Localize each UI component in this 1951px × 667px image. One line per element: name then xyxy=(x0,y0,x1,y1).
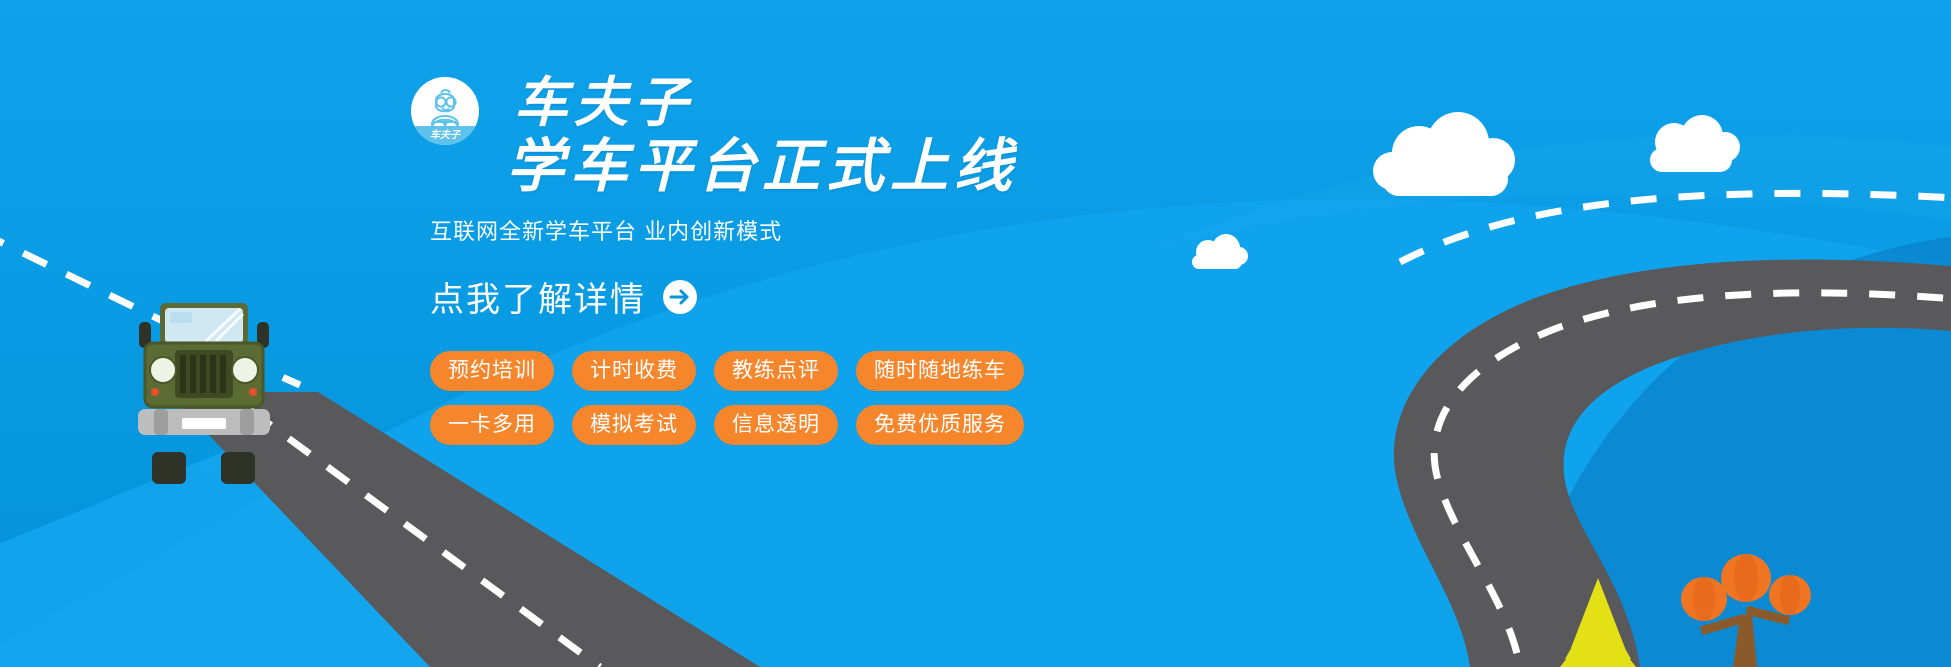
promo-banner: 车夫子 车夫子 学车平台正式上线 互联网全新学车平台 业内创新模式 点我了解详情 xyxy=(0,0,1951,667)
banner-content: 车夫子 车夫子 学车平台正式上线 互联网全新学车平台 业内创新模式 点我了解详情 xyxy=(410,62,1170,459)
feature-tag[interactable]: 模拟考试 xyxy=(572,405,696,445)
brand-row: 车夫子 车夫子 学车平台正式上线 xyxy=(410,62,1170,196)
feature-tag[interactable]: 教练点评 xyxy=(714,351,838,391)
logo-badge-text: 车夫子 xyxy=(430,129,461,141)
arrow-right-circle-icon xyxy=(662,279,698,315)
feature-tag[interactable]: 预约培训 xyxy=(430,351,554,391)
headline-line-2: 学车平台正式上线 xyxy=(506,138,1018,196)
feature-tag[interactable]: 免费优质服务 xyxy=(856,405,1024,445)
headline-line-1: 车夫子 xyxy=(514,76,1018,130)
feature-tag[interactable]: 一卡多用 xyxy=(430,405,554,445)
cta-learn-more-button[interactable]: 点我了解详情 xyxy=(430,272,698,321)
feature-tag[interactable]: 随时随地练车 xyxy=(856,351,1024,391)
chefuzi-driver-logo: 车夫子 xyxy=(410,76,480,146)
feature-tag[interactable]: 计时收费 xyxy=(572,351,696,391)
subtitle: 互联网全新学车平台 业内创新模式 xyxy=(430,214,1170,246)
cta-label: 点我了解详情 xyxy=(430,272,646,321)
feature-tag-row-2: 一卡多用 模拟考试 信息透明 免费优质服务 xyxy=(430,405,1170,445)
headline: 车夫子 学车平台正式上线 xyxy=(506,62,1018,196)
feature-tag[interactable]: 信息透明 xyxy=(714,405,838,445)
feature-tag-row-1: 预约培训 计时收费 教练点评 随时随地练车 xyxy=(430,351,1170,391)
feature-tag-rows: 预约培训 计时收费 教练点评 随时随地练车 一卡多用 模拟考试 信息透明 免费优… xyxy=(430,351,1170,445)
